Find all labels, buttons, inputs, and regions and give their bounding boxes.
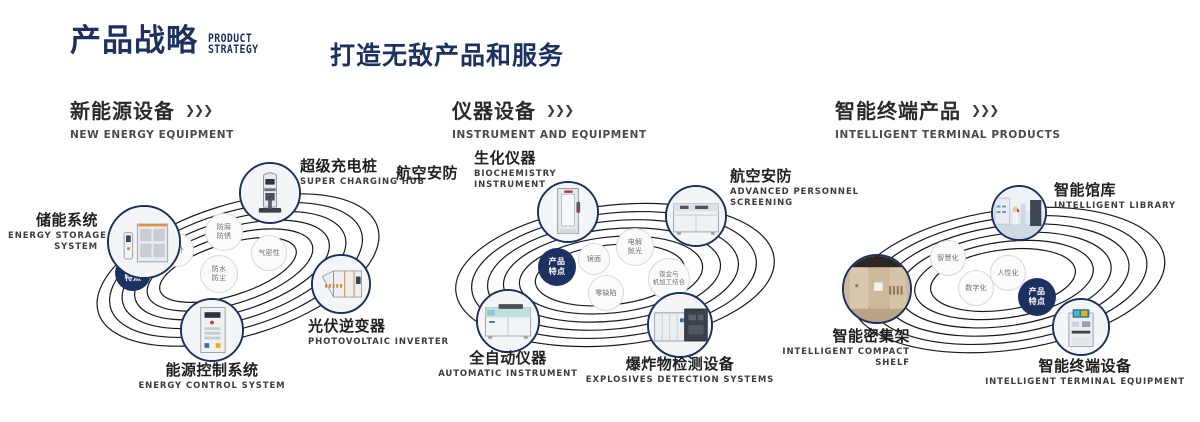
header-slogan: 打造无敌产品和服务 xyxy=(330,36,564,72)
node-label-extra-aviation-security: 航空安防 xyxy=(348,165,458,182)
feature-bubble: 镜面 xyxy=(578,243,610,275)
pv-inverter-cabinet-icon[interactable] xyxy=(311,254,371,314)
chevron-right-icon: ❯❯❯ xyxy=(185,104,212,116)
section-title-cn-text: 智能终端产品 xyxy=(835,95,961,124)
feature-bubble: 零缺陷 xyxy=(588,275,624,311)
poster-header: 产品战略 PRODUCT STRATEGY xyxy=(70,26,267,57)
node-label-cn: 智能终端设备 xyxy=(970,358,1200,375)
node-label: 智能终端设备 INTELLIGENT TERMINAL EQUIPMENT xyxy=(970,358,1200,388)
node-label: 生化仪器 BIOCHEMISTRYINSTRUMENT xyxy=(474,150,594,191)
section-title-en: INTELLIGENT TERMINAL PRODUCTS xyxy=(835,129,1061,141)
node-label: 智能馆库 INTELLIGENT LIBRARY xyxy=(1054,182,1200,212)
node-label-cn: 能源控制系统 xyxy=(92,362,332,379)
node-label-cn: 航空安防 xyxy=(348,165,458,182)
feature-bubble: 气密性 xyxy=(251,235,287,271)
node-label-en: INTELLIGENT TERMINAL EQUIPMENT xyxy=(970,377,1200,388)
compact-shelving-photo-icon[interactable] xyxy=(842,254,912,324)
feature-bubble: 数字化 xyxy=(958,270,994,306)
library-room-photo-icon[interactable] xyxy=(991,185,1047,241)
node-label-cn: 生化仪器 xyxy=(474,150,594,167)
feature-bubble: 电解抛光 xyxy=(616,228,654,266)
diagram-instrument: 镜面 电解抛光 零缺陷 钣金与机加工结合 产品特点 生化仪器 BIOCHEMIS… xyxy=(410,150,810,410)
node-label-cn: 储能系统 xyxy=(8,212,98,229)
node-label: 智能密集架 INTELLIGENT COMPACTSHELF xyxy=(730,328,910,369)
feature-bubble: 防水防尘 xyxy=(200,255,238,293)
header-title-en: PRODUCT STRATEGY xyxy=(208,33,258,55)
node-label-en: AUTOMATIC INSTRUMENT xyxy=(400,369,616,380)
poster-canvas: 产品战略 PRODUCT STRATEGY 打造无敌产品和服务 新能源设备 ❯❯… xyxy=(0,0,1200,422)
node-label-en: BIOCHEMISTRYINSTRUMENT xyxy=(474,169,594,191)
node-label-en: INTELLIGENT LIBRARY xyxy=(1054,201,1200,212)
node-label-cn: 智能密集架 xyxy=(730,328,910,345)
section-title-en: NEW ENERGY EQUIPMENT xyxy=(70,129,234,141)
node-label-cn: 全自动仪器 xyxy=(400,350,616,367)
node-label-en: ENERGY STORAGESYSTEM xyxy=(8,231,98,253)
node-label-en: ENERGY CONTROL SYSTEM xyxy=(92,381,332,392)
energy-storage-cabinet-icon[interactable] xyxy=(107,205,181,279)
header-title-cn: 产品战略 xyxy=(70,26,198,57)
node-label: 全自动仪器 AUTOMATIC INSTRUMENT xyxy=(400,350,616,380)
core-bubble: 产品特点 xyxy=(1018,278,1056,316)
diagram-new-energy: 户外 防腐防锈 防水防尘 气密性 产品特点 xyxy=(50,150,450,410)
control-cabinet-icon[interactable] xyxy=(180,298,244,362)
screening-machine-icon[interactable] xyxy=(665,185,727,247)
core-bubble: 产品特点 xyxy=(538,248,576,286)
explosives-detector-icon[interactable] xyxy=(647,292,713,358)
node-label: 储能系统 ENERGY STORAGESYSTEM xyxy=(8,212,98,253)
automatic-analyzer-icon[interactable] xyxy=(476,289,540,353)
self-service-kiosk-icon[interactable] xyxy=(1052,298,1110,356)
section-heading-new-energy: 新能源设备 ❯❯❯ NEW ENERGY EQUIPMENT xyxy=(70,95,234,141)
section-title-cn-text: 仪器设备 xyxy=(452,95,536,124)
chevron-right-icon: ❯❯❯ xyxy=(546,104,573,116)
node-label: 能源控制系统 ENERGY CONTROL SYSTEM xyxy=(92,362,332,392)
section-heading-instrument: 仪器设备 ❯❯❯ INSTRUMENT AND EQUIPMENT xyxy=(452,95,647,141)
chevron-right-icon: ❯❯❯ xyxy=(971,104,998,116)
section-heading-intelligent-terminal: 智能终端产品 ❯❯❯ INTELLIGENT TERMINAL PRODUCTS xyxy=(835,95,1061,141)
feature-bubble: 防腐防锈 xyxy=(205,213,243,251)
section-title-en: INSTRUMENT AND EQUIPMENT xyxy=(452,129,647,141)
section-title-cn: 智能终端产品 ❯❯❯ xyxy=(835,95,1061,124)
feature-bubble: 智慧化 xyxy=(930,240,966,276)
diagram-intelligent-terminal: 智慧化 数字化 人性化 产品特点 xyxy=(800,150,1200,410)
node-label-cn: 智能馆库 xyxy=(1054,182,1200,199)
header-title-en-line2: STRATEGY xyxy=(208,44,258,55)
section-title-cn: 新能源设备 ❯❯❯ xyxy=(70,95,234,124)
ev-charging-pile-icon[interactable] xyxy=(239,162,301,224)
section-title-cn-text: 新能源设备 xyxy=(70,95,175,124)
node-label-en: INTELLIGENT COMPACTSHELF xyxy=(730,347,910,369)
section-title-cn: 仪器设备 ❯❯❯ xyxy=(452,95,647,124)
